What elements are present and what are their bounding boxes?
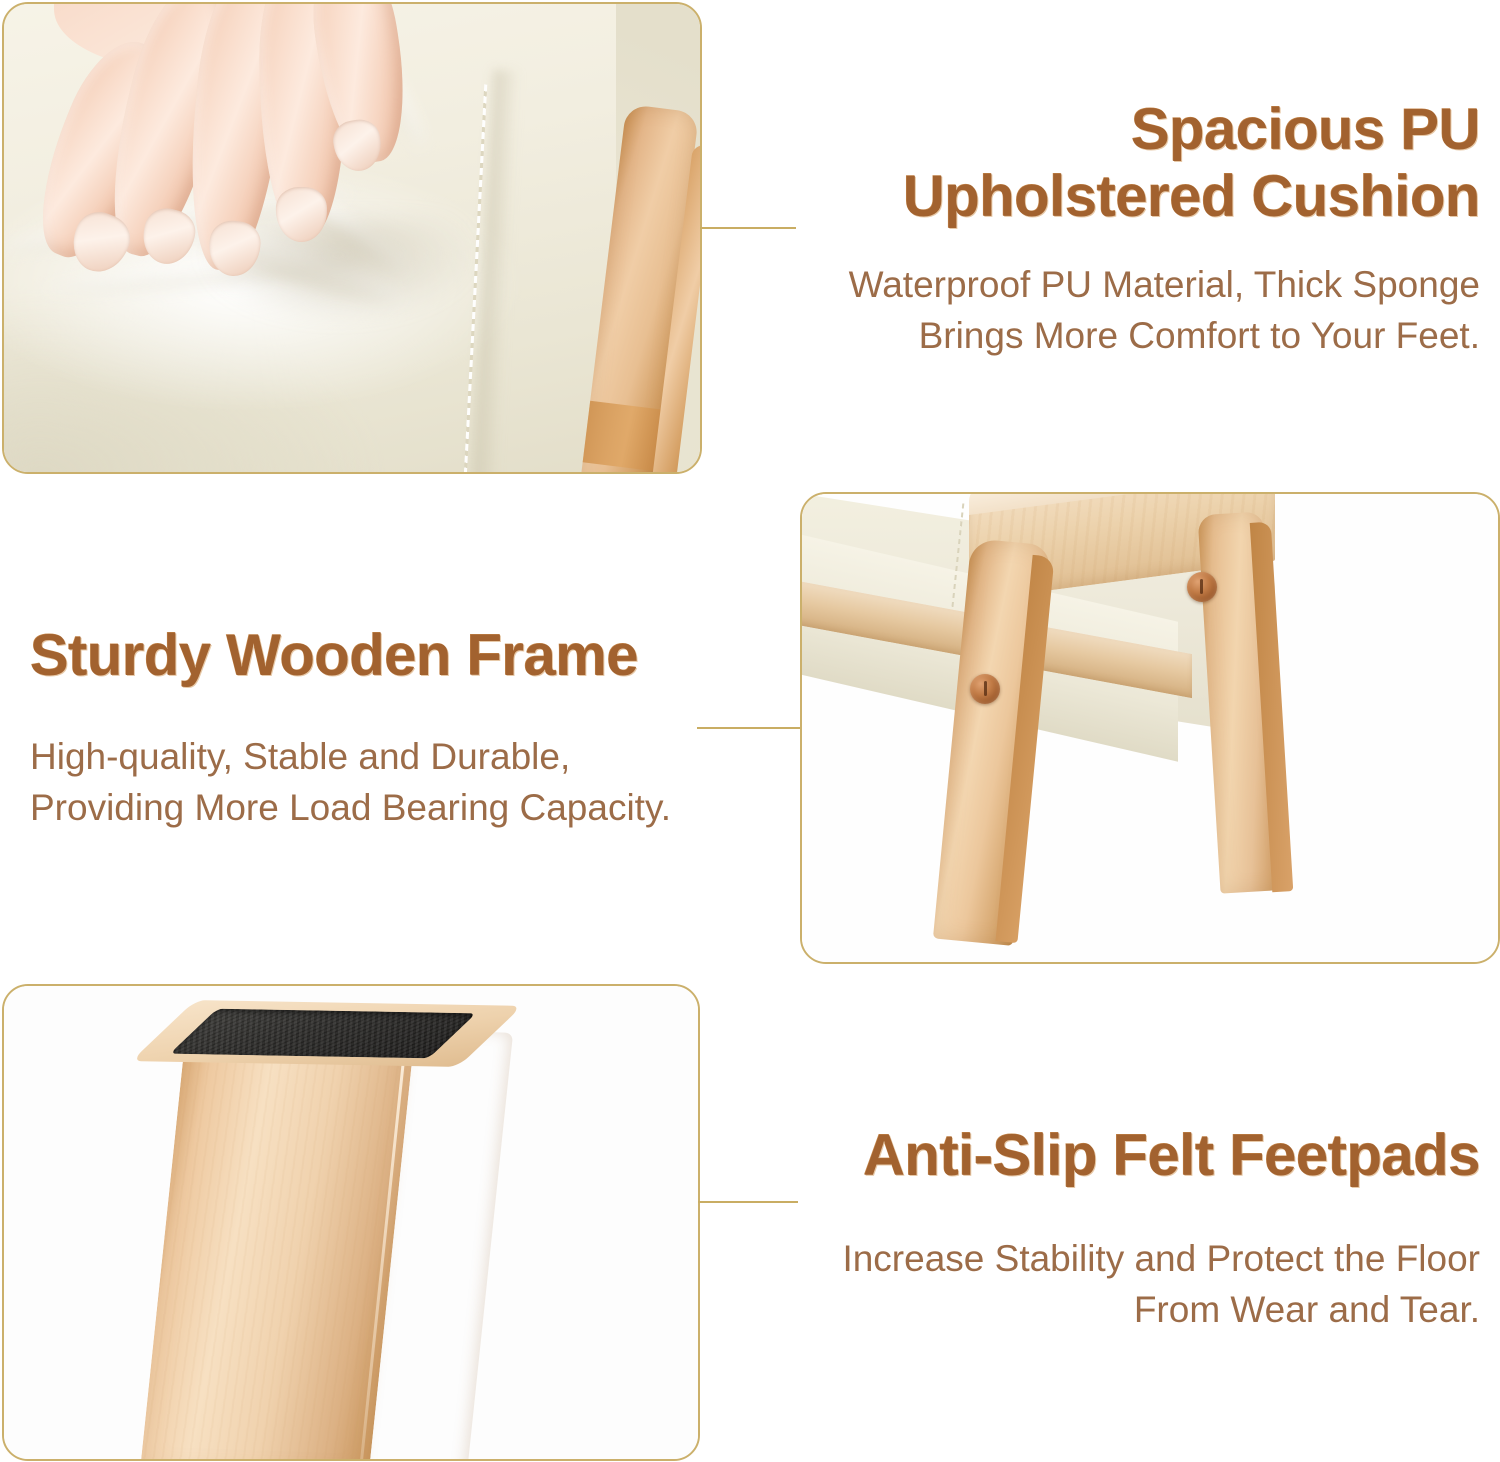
feetpads-body-line-1: Increase Stability and Protect the Floor <box>790 1233 1480 1284</box>
feature-text-frame: Sturdy Wooden Frame High-quality, Stable… <box>30 622 730 833</box>
copper-screw-icon <box>1187 572 1217 602</box>
feetpads-body-line-2: From Wear and Tear. <box>790 1284 1480 1335</box>
fingernail <box>275 187 327 243</box>
wood-grain-knot <box>582 401 662 471</box>
copper-screw-icon <box>970 674 1000 704</box>
connector-line-frame <box>697 727 801 729</box>
frame-body-line-1: High-quality, Stable and Durable, <box>30 731 730 782</box>
product-feature-infographic: Spacious PU Upholstered Cushion Waterpro… <box>0 0 1500 1462</box>
connector-line-feetpads <box>698 1201 798 1203</box>
black-felt-pad <box>170 1008 476 1058</box>
frame-photo <box>802 494 1498 962</box>
feetpads-photo <box>4 986 698 1459</box>
cushion-photo <box>4 4 700 472</box>
feature-text-cushion: Spacious PU Upholstered Cushion Waterpro… <box>780 96 1480 361</box>
cushion-body-line-2: Brings More Comfort to Your Feet. <box>780 310 1480 361</box>
feature-text-feetpads: Anti-Slip Felt Feetpads Increase Stabili… <box>790 1122 1480 1335</box>
cushion-heading-line-2: Upholstered Cushion <box>780 163 1480 230</box>
feature-photo-feetpads <box>2 984 700 1461</box>
feetpads-heading-line-1: Anti-Slip Felt Feetpads <box>790 1122 1480 1189</box>
feature-photo-frame <box>800 492 1500 964</box>
hand <box>46 4 436 364</box>
cushion-heading-line-1: Spacious PU <box>780 96 1480 163</box>
leg-front-face <box>140 1006 417 1459</box>
frame-heading-line-1: Sturdy Wooden Frame <box>30 622 730 689</box>
frame-body-line-2: Providing More Load Bearing Capacity. <box>30 782 730 833</box>
cushion-body-line-1: Waterproof PU Material, Thick Sponge <box>780 259 1480 310</box>
feature-photo-cushion <box>2 2 702 474</box>
